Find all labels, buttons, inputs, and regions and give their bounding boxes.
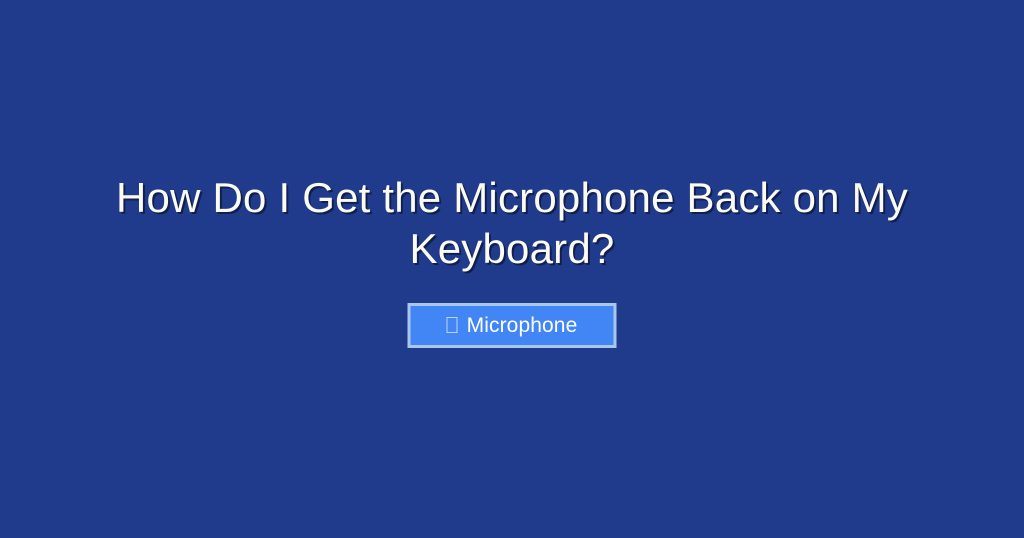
microphone-button-label: Microphone — [467, 315, 578, 336]
microphone-icon — [447, 317, 458, 333]
microphone-button[interactable]: Microphone — [408, 303, 617, 348]
page-canvas: How Do I Get the Microphone Back on My K… — [0, 0, 1024, 538]
page-title: How Do I Get the Microphone Back on My K… — [0, 172, 1024, 274]
